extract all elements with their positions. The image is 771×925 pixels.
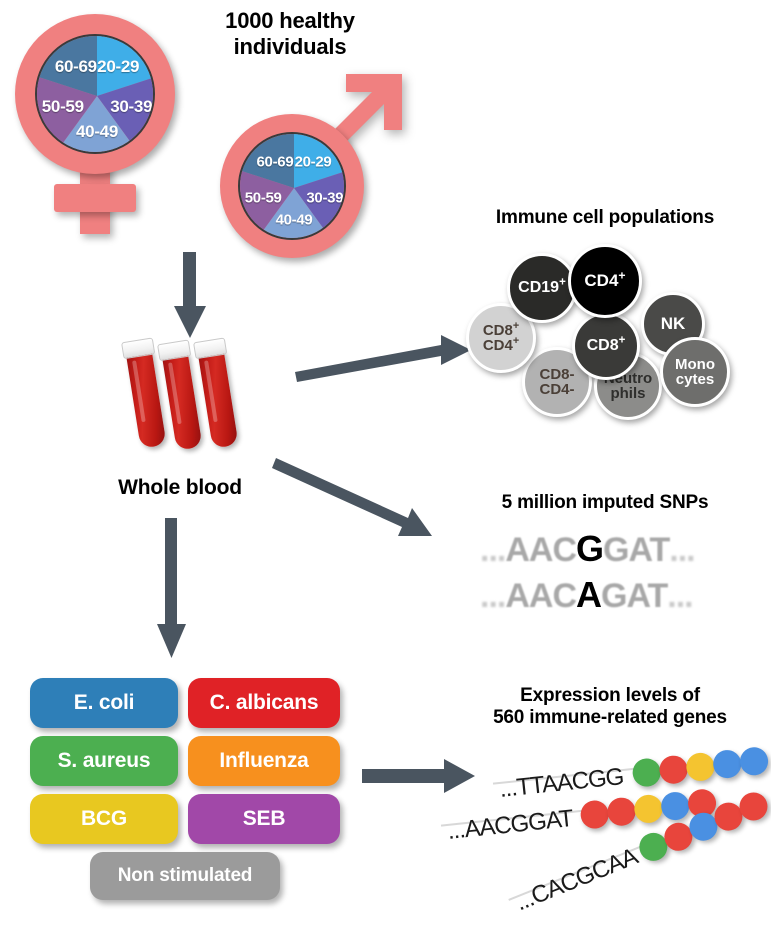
snp-variant-base: A bbox=[576, 574, 601, 616]
arrow-blood-to-stimuli bbox=[152, 518, 192, 668]
snp-heading: 5 million imputed SNPs bbox=[455, 492, 755, 514]
gene-bead-yellow bbox=[633, 794, 664, 825]
snp-pre-bases: AAC bbox=[505, 531, 576, 570]
gene-bead-red bbox=[606, 796, 637, 827]
snp-variant-base: G bbox=[576, 528, 603, 570]
gene-bead-blue bbox=[712, 749, 743, 780]
immune-cell-label: CD19+ bbox=[518, 280, 566, 296]
immune-cell-label: Monocytes bbox=[675, 357, 715, 388]
whole-blood-label: Whole blood bbox=[80, 476, 280, 501]
immune-cell-cd8: CD8+ bbox=[572, 312, 640, 380]
stimulus-box-non-stimulated[interactable]: Non stimulated bbox=[90, 852, 280, 900]
snp-sequences: ...AACGGAT......AACAGAT... bbox=[480, 528, 760, 623]
gene-bead-red bbox=[658, 754, 689, 785]
stimulus-box-bcg[interactable]: BCG bbox=[30, 794, 178, 844]
snp-prefix-dots: ... bbox=[480, 531, 505, 570]
stimulus-label: Influenza bbox=[219, 749, 308, 773]
stimuli-panel: E. coliC. albicansS. aureusInfluenzaBCGS… bbox=[30, 678, 340, 893]
stimulus-box-s-aureus[interactable]: S. aureus bbox=[30, 736, 178, 786]
gene-bead-blue bbox=[660, 791, 691, 822]
gene-bead-green bbox=[631, 757, 662, 788]
snp-prefix-dots: ... bbox=[480, 577, 505, 616]
snp-sequence-row: ...AACGGAT... bbox=[480, 528, 695, 570]
stimulus-box-e-coli[interactable]: E. coli bbox=[30, 678, 178, 728]
stimulus-label: S. aureus bbox=[58, 749, 151, 773]
immune-cell-label: CD8+CD4+ bbox=[483, 323, 519, 354]
snp-post-bases: GAT bbox=[603, 531, 669, 570]
immune-cell-monocytes: Monocytes bbox=[660, 337, 730, 407]
gene-heading-line2: 560 immune-related genes bbox=[455, 707, 765, 729]
immune-cell-cd4: CD4+ bbox=[568, 244, 642, 318]
immune-cell-label: CD8+ bbox=[587, 338, 626, 354]
stimulus-box-c-albicans[interactable]: C. albicans bbox=[188, 678, 340, 728]
snp-suffix-dots: ... bbox=[667, 577, 692, 616]
gene-expression-heading: Expression levels of 560 immune-related … bbox=[455, 685, 765, 730]
stimulus-label: BCG bbox=[81, 807, 127, 831]
stimulus-box-seb[interactable]: SEB bbox=[188, 794, 340, 844]
gene-strand-sequence: ...AACGGAT bbox=[446, 805, 574, 846]
stimulus-label: SEB bbox=[243, 807, 286, 831]
gene-bead-red bbox=[579, 799, 610, 830]
gene-bead-yellow bbox=[685, 752, 716, 783]
immune-cell-cd19: CD19+ bbox=[507, 253, 577, 323]
snp-sequence-row: ...AACAGAT... bbox=[480, 574, 693, 616]
snp-pre-bases: AAC bbox=[505, 577, 576, 616]
gene-strands: ...TTAACGG...AACGGAT...CACGCAA bbox=[440, 740, 771, 922]
gene-heading-line1: Expression levels of bbox=[455, 685, 765, 707]
stimulus-label: E. coli bbox=[74, 691, 134, 715]
gene-strand-sequence: ...TTAACGG bbox=[498, 763, 624, 804]
immune-cell-label: CD8-CD4- bbox=[539, 367, 574, 398]
immune-cell-label: NK bbox=[661, 315, 686, 332]
arrow-blood-to-snps bbox=[272, 432, 462, 547]
stimulus-label: Non stimulated bbox=[118, 865, 252, 887]
immune-cell-cluster: CD19+CD4+CD8+CD4+CD8+NKCD8-CD4-Neutrophi… bbox=[0, 0, 771, 430]
snp-suffix-dots: ... bbox=[669, 531, 694, 570]
stimulus-label: C. albicans bbox=[210, 691, 319, 715]
gene-strand-sequence: ...CACGCAA bbox=[512, 843, 642, 917]
arrow-shape bbox=[272, 458, 432, 536]
arrow-shape bbox=[157, 518, 186, 658]
stimulus-box-influenza[interactable]: Influenza bbox=[188, 736, 340, 786]
snp-post-bases: GAT bbox=[601, 577, 667, 616]
immune-cell-label: CD4+ bbox=[584, 272, 625, 289]
gene-bead-blue bbox=[739, 746, 770, 777]
